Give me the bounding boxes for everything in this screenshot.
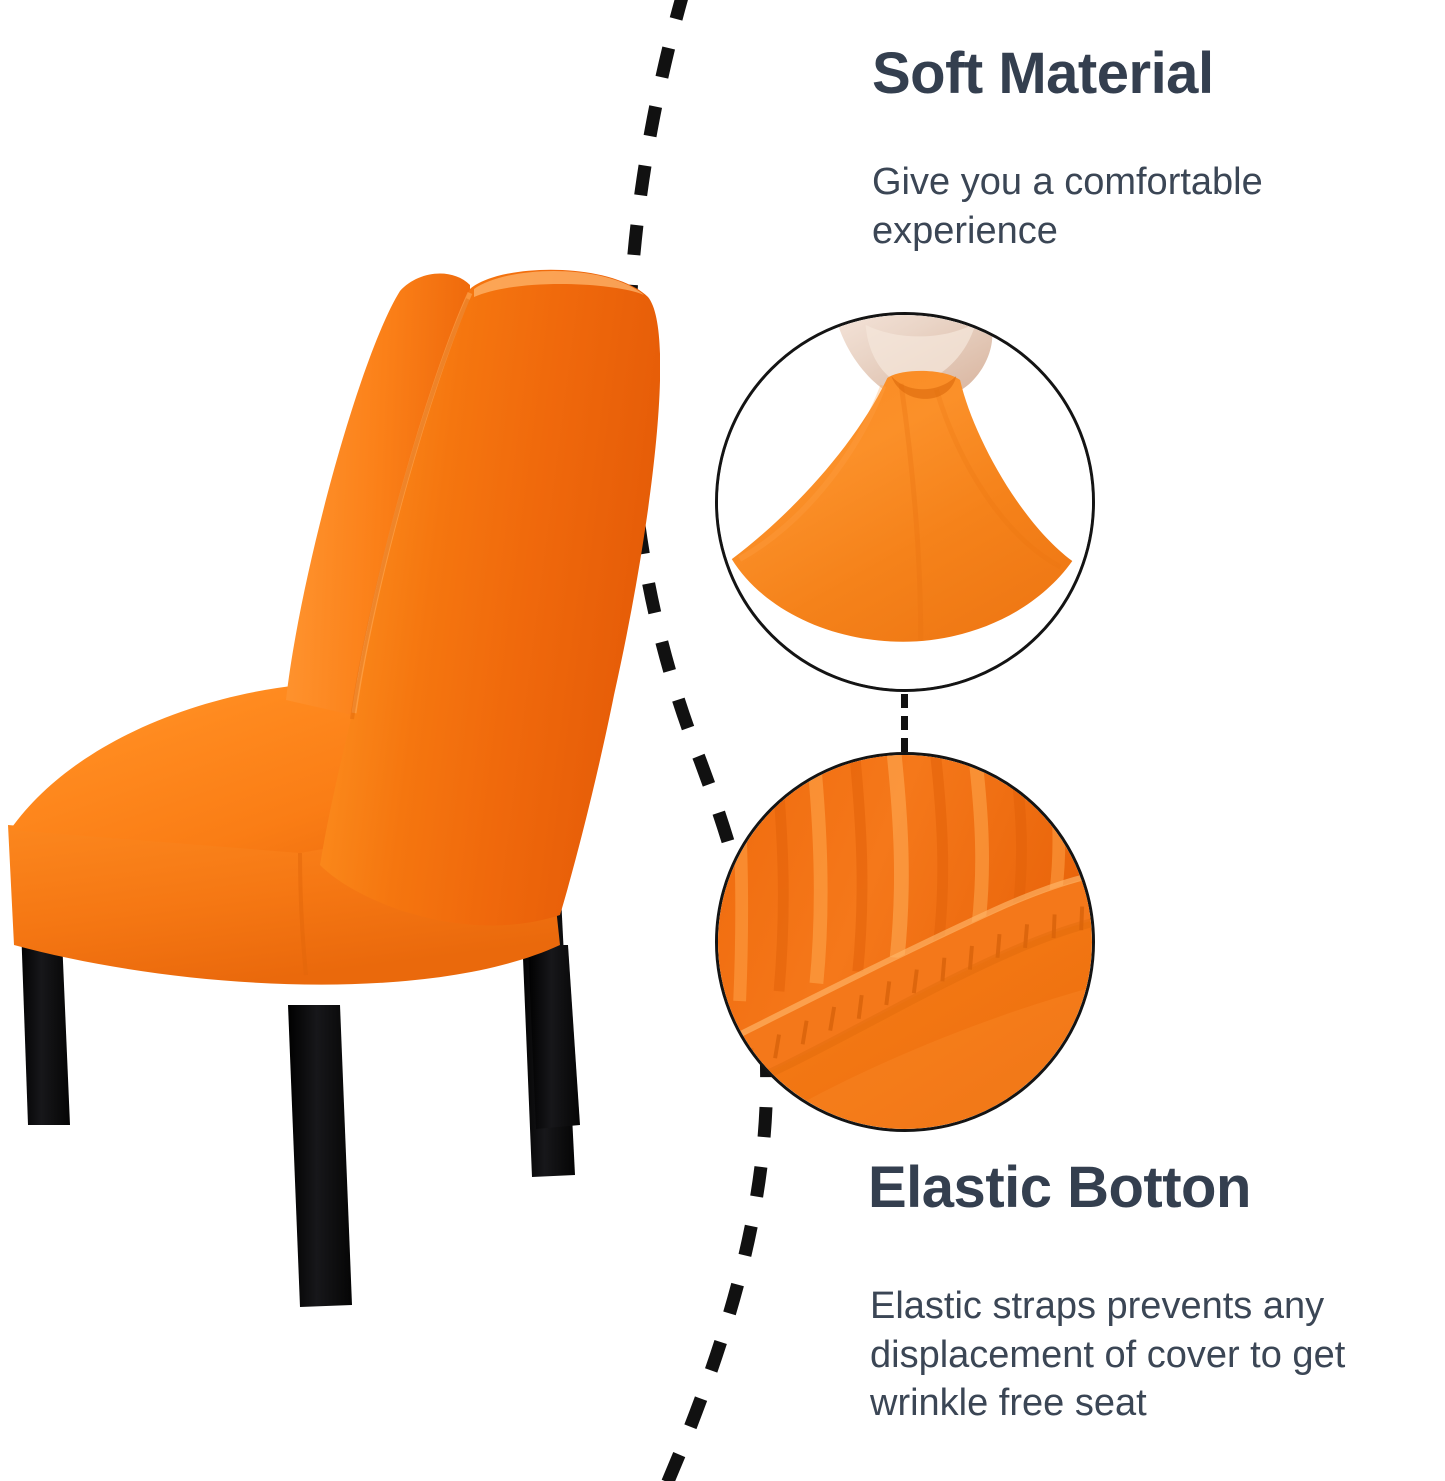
chair-leg-front-left (288, 1005, 352, 1307)
body-elastic-bottom: Elastic straps prevents any displacement… (870, 1282, 1430, 1428)
product-chair-photo (0, 245, 660, 1315)
heading-soft-material: Soft Material (872, 44, 1214, 105)
detail-circle-soft-material (715, 312, 1095, 692)
fabric-pinch-photo (718, 315, 1092, 689)
elastic-hem-photo (718, 755, 1092, 1129)
circle-connector-dashes (901, 694, 908, 752)
heading-elastic-bottom: Elastic Botton (868, 1158, 1251, 1219)
chair-leg-front-right (528, 945, 580, 1129)
chair-illustration (0, 245, 660, 1315)
detail-circle-elastic-bottom (715, 752, 1095, 1132)
body-soft-material: Give you a comfortable experience (872, 158, 1392, 255)
infographic-page: Soft Material Give you a comfortable exp… (0, 0, 1445, 1481)
